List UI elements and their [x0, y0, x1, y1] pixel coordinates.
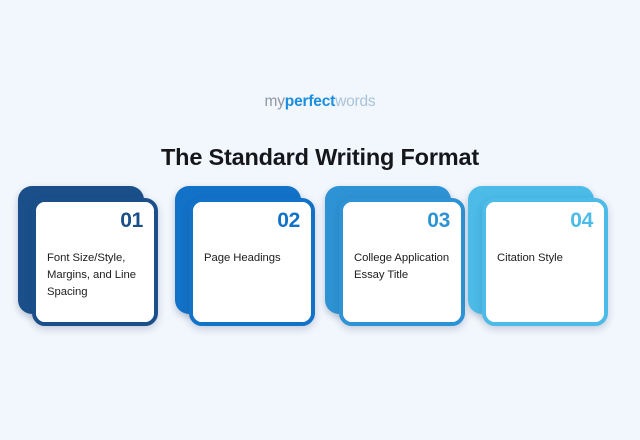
card-number: 03: [427, 210, 450, 231]
card-frame: 03 College Application Essay Title: [339, 198, 465, 326]
card-label: Page Headings: [204, 250, 302, 267]
card-frame: 01 Font Size/Style, Margins, and Line Sp…: [32, 198, 158, 326]
card-frame: 02 Page Headings: [189, 198, 315, 326]
card-frame: 04 Citation Style: [482, 198, 608, 326]
logo-text-my: my: [265, 93, 285, 110]
card-number: 02: [277, 210, 300, 231]
logo-text-words: words: [335, 93, 375, 110]
page-title: The Standard Writing Format: [0, 143, 640, 171]
brand-logo: myperfectwords: [0, 94, 640, 110]
card-list: 01 Font Size/Style, Margins, and Line Sp…: [0, 186, 640, 336]
card-body: 03 College Application Essay Title: [343, 202, 461, 322]
card-item-1[interactable]: 01 Font Size/Style, Margins, and Line Sp…: [18, 186, 158, 328]
card-item-2[interactable]: 02 Page Headings: [175, 186, 315, 328]
card-body: 02 Page Headings: [193, 202, 311, 322]
logo-text-perfect: perfect: [285, 93, 335, 110]
infographic-page: myperfectwords The Standard Writing Form…: [0, 0, 640, 440]
card-number: 01: [120, 210, 143, 231]
card-body: 04 Citation Style: [486, 202, 604, 322]
card-label: College Application Essay Title: [354, 250, 452, 284]
card-label: Font Size/Style, Margins, and Line Spaci…: [47, 250, 145, 301]
card-label: Citation Style: [497, 250, 595, 267]
card-number: 04: [570, 210, 593, 231]
card-body: 01 Font Size/Style, Margins, and Line Sp…: [36, 202, 154, 322]
card-item-4[interactable]: 04 Citation Style: [468, 186, 608, 328]
card-item-3[interactable]: 03 College Application Essay Title: [325, 186, 465, 328]
